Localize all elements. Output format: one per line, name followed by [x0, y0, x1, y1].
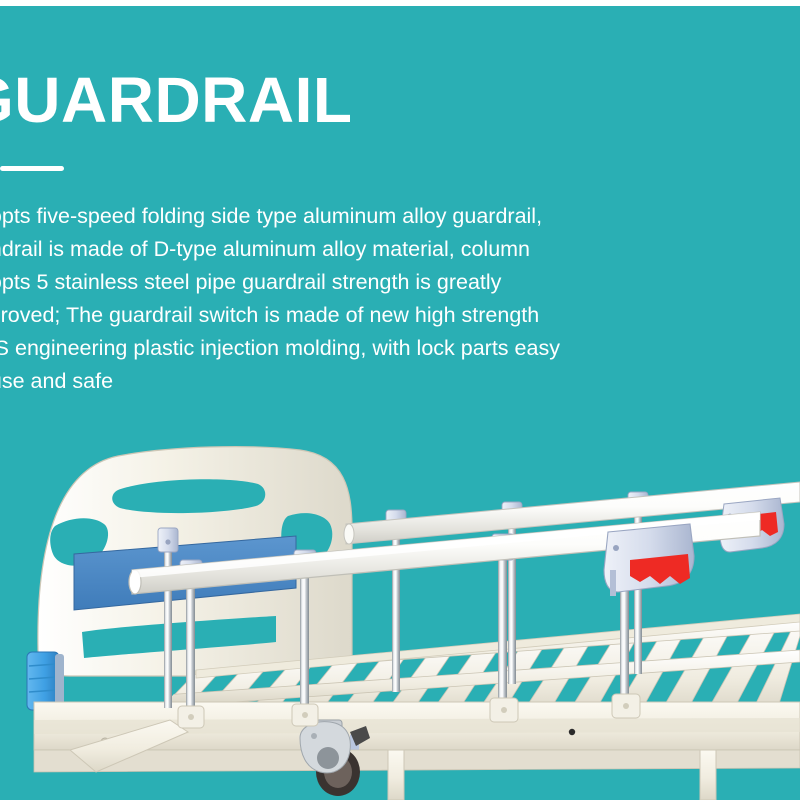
bed-leg	[700, 750, 716, 800]
corner-bumper	[27, 652, 64, 710]
top-white-strip	[0, 0, 800, 6]
title-divider-rule	[0, 166, 64, 171]
description-line: to use and safe	[0, 365, 663, 398]
description-line: ABS engineering plastic injection moldin…	[0, 332, 663, 365]
bed-leg	[388, 750, 404, 800]
description-line: improved; The guardrail switch is made o…	[0, 299, 663, 332]
guardrail-switch	[604, 524, 694, 596]
bed-lower-frame-bar	[34, 750, 800, 772]
description-line: adopts 5 stainless steel pipe guardrail …	[0, 266, 663, 299]
product-banner-image: GUARDRAIL adopts five-speed folding side…	[0, 0, 800, 800]
hospital-bed-illustration	[0, 420, 800, 800]
description-line: adopts five-speed folding side type alum…	[0, 200, 663, 233]
description-paragraph: adopts five-speed folding side type alum…	[0, 200, 663, 398]
page-title: GUARDRAIL	[0, 68, 800, 132]
description-line: handrail is made of D-type aluminum allo…	[0, 233, 663, 266]
